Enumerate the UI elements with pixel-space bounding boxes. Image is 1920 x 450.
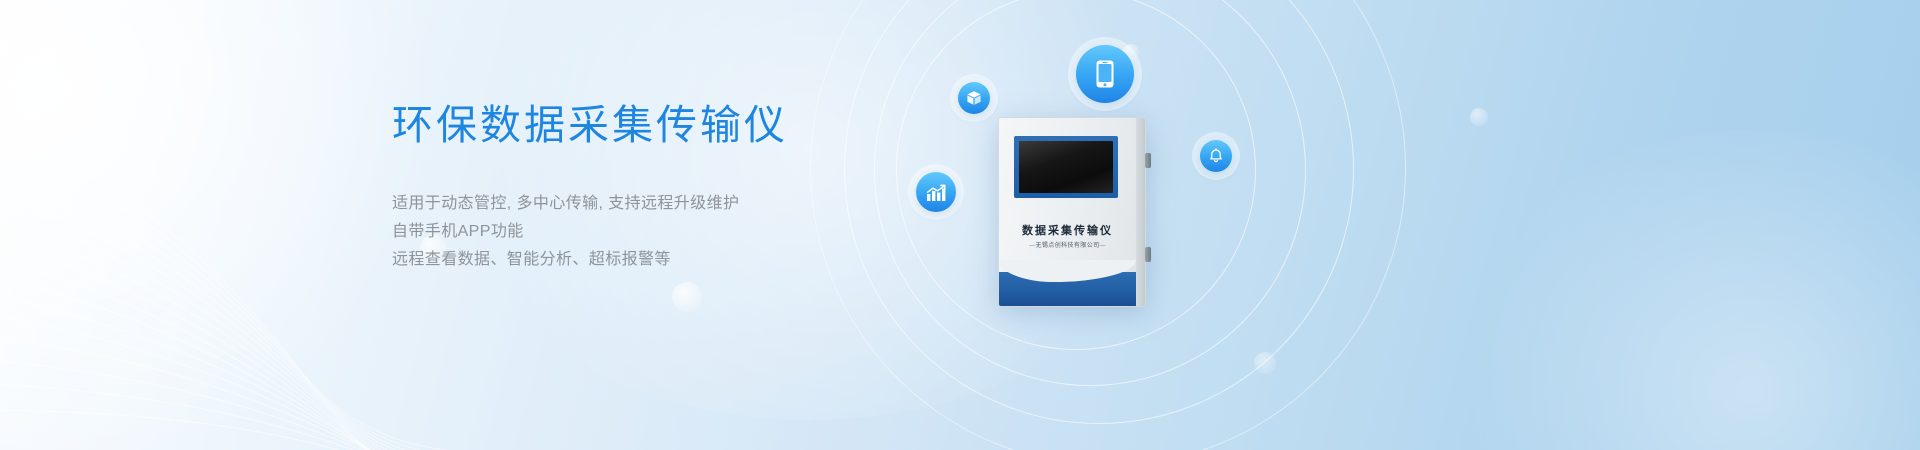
cabinet-side-panel [1136,118,1145,306]
device-screen-bezel [1014,136,1118,198]
background-glow-right [1440,130,1920,450]
cabinet-body: 数据采集传输仪 —无锡点创科技有限公司— [998,117,1146,307]
bar-chart-icon [916,172,956,212]
device-screen [1019,141,1113,193]
package-box-icon [958,82,990,114]
device-brand-label: 数据采集传输仪 [999,222,1136,238]
alarm-bell-icon [1200,140,1232,172]
device-company-label: —无锡点创科技有限公司— [999,240,1136,249]
data-acquisition-cabinet: 数据采集传输仪 —无锡点创科技有限公司— [998,117,1146,307]
cabinet-hinge [1145,247,1151,262]
product-visual: 数据采集传输仪 —无锡点创科技有限公司— [880,0,1350,450]
cabinet-hinge [1145,153,1151,168]
cabinet-base [999,272,1136,306]
product-banner: 环保数据采集传输仪 适用于动态管控, 多中心传输, 支持远程升级维护 自带手机A… [0,0,1920,450]
bokeh-circle [1470,108,1488,126]
mobile-phone-icon [1076,45,1134,103]
